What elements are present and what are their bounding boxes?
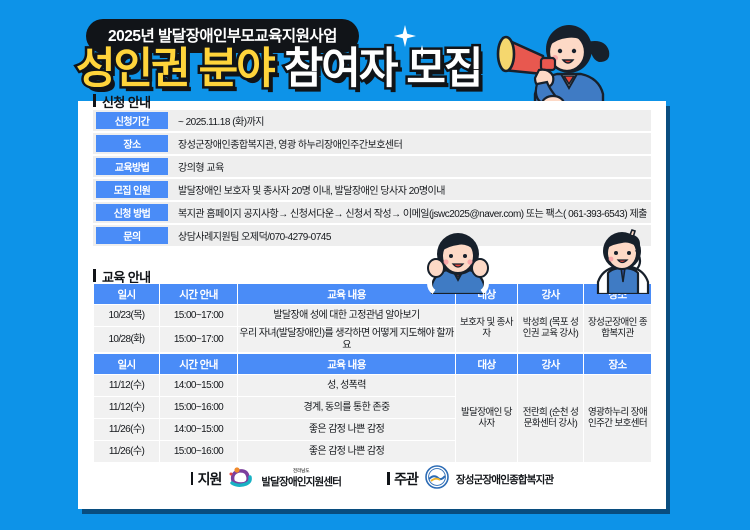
info-value-howto: 복지관 홈페이지 공지사항→ 신청서다운→ 신청서 작성→ 이메일(jswc20… (178, 205, 647, 220)
apply-info-list: 신청기간 ~ 2025.11.18 (화)까지 장소 장성군장애인종합복지관, … (93, 110, 651, 248)
cell-target: 발달장애인 당사자 (456, 375, 518, 463)
cell-date: 10/23(목) (94, 305, 160, 327)
col-time: 시간 안내 (160, 354, 238, 375)
sparkle-small-icon (415, 45, 429, 59)
cell-date: 11/12(수) (94, 397, 160, 419)
info-row: 신청 방법 복지관 홈페이지 공지사항→ 신청서다운→ 신청서 작성→ 이메일(… (93, 202, 651, 223)
info-value-contact: 상담사례지원팀 오제덕/070-4279-0745 (178, 228, 331, 243)
col-date: 일시 (94, 354, 160, 375)
cell-date: 11/26(수) (94, 419, 160, 441)
col-instructor: 강사 (518, 354, 584, 375)
content-card: 신청 안내 신청기간 ~ 2025.11.18 (화)까지 장소 장성군장애인종… (78, 101, 666, 509)
girl-cheeks-illustration (420, 232, 496, 294)
cell-date: 10/28(화) (94, 327, 160, 353)
cell-time: 15:00~17:00 (160, 327, 238, 353)
table-header-row: 일시 시간 안내 교육 내용 대상 강사 장소 (94, 354, 652, 375)
cell-place: 장성군장애인 종합복지관 (584, 305, 652, 353)
info-value-capacity: 발달장애인 보호자 및 종사자 20명 이내, 발달장애인 당사자 20명이내 (178, 182, 445, 197)
info-row: 교육방법 강의형 교육 (93, 156, 651, 177)
education-table-1: 일시 시간 안내 교육 내용 대상 강사 장소 10/23(목) 15:00~1… (93, 283, 652, 353)
col-instructor: 강사 (518, 284, 584, 305)
sparkle-icon (394, 25, 416, 47)
host-group: 주관 장성군장애인종합복지관 (387, 465, 553, 494)
poster-footer: 지원 전라남도 발달장애인지원센터 주관 (78, 461, 666, 497)
col-content: 교육 내용 (238, 354, 456, 375)
info-row: 모집 인원 발달장애인 보호자 및 종사자 20명 이내, 발달장애인 당사자 … (93, 179, 651, 200)
cell-content: 우리 자녀(발달장애인)를 생각하면 어떻게 지도해야 할까요 (238, 327, 456, 353)
table-header-row: 일시 시간 안내 교육 내용 대상 강사 장소 (94, 284, 652, 305)
col-place: 장소 (584, 354, 652, 375)
support-org-text: 발달장애인지원센터 (261, 476, 341, 488)
cell-time: 15:00~16:00 (160, 441, 238, 463)
megaphone-girl-illustration (495, 18, 630, 110)
info-label-capacity: 모집 인원 (96, 181, 168, 198)
col-target: 대상 (456, 354, 518, 375)
support-org-superscript: 전라남도 (261, 469, 341, 474)
info-label-method: 교육방법 (96, 158, 168, 175)
cell-content: 좋은 감정 나쁜 감정 (238, 419, 456, 441)
cell-content: 발달장애 성에 대한 고정관념 알아보기 (238, 305, 456, 327)
table-row: 10/23(목) 15:00~17:00 발달장애 성에 대한 고정관념 알아보… (94, 305, 652, 327)
jangseong-welfare-logo-icon (425, 465, 449, 494)
cell-content: 좋은 감정 나쁜 감정 (238, 441, 456, 463)
support-org-name: 전라남도 발달장애인지원센터 (261, 469, 341, 490)
education-table-2: 일시 시간 안내 교육 내용 대상 강사 장소 11/12(수) 14:00~1… (93, 353, 652, 463)
cell-time: 14:00~15:00 (160, 375, 238, 397)
boy-raised-hand-illustration (588, 228, 658, 294)
cell-date: 11/12(수) (94, 375, 160, 397)
page-title-highlight: 성인권 분야 (76, 45, 274, 93)
cell-content: 성, 성폭력 (238, 375, 456, 397)
page-title-main: 참여자 모집 (284, 45, 482, 93)
host-label: 주관 (387, 469, 418, 489)
info-row: 문의 상담사례지원팀 오제덕/070-4279-0745 (93, 225, 651, 246)
info-value-period: ~ 2025.11.18 (화)까지 (178, 113, 264, 128)
cell-place: 영광하누리 장애인주간 보호센터 (584, 375, 652, 463)
cell-target: 보호자 및 종사자 (456, 305, 518, 353)
cell-date: 11/26(수) (94, 441, 160, 463)
cell-time: 15:00~16:00 (160, 397, 238, 419)
info-value-place: 장성군장애인종합복지관, 영광 하누리장애인주간보호센터 (178, 136, 402, 151)
cell-time: 14:00~15:00 (160, 419, 238, 441)
info-value-method: 강의형 교육 (178, 159, 224, 174)
info-label-period: 신청기간 (96, 112, 168, 129)
cell-content: 경계, 동의를 통한 존중 (238, 397, 456, 419)
jeonnam-center-logo-icon (228, 465, 254, 494)
info-label-howto: 신청 방법 (96, 204, 168, 221)
support-label: 지원 (191, 469, 222, 489)
col-date: 일시 (94, 284, 160, 305)
support-group: 지원 전라남도 발달장애인지원센터 (191, 465, 342, 494)
info-row: 장소 장성군장애인종합복지관, 영광 하누리장애인주간보호센터 (93, 133, 651, 154)
info-label-contact: 문의 (96, 227, 168, 244)
cell-instructor: 전란희 (순천 성 문화센터 강사) (518, 375, 584, 463)
cell-instructor: 박성희 (목포 성인권 교육 강사) (518, 305, 584, 353)
host-org-name: 장성군장애인종합복지관 (456, 472, 553, 487)
col-time: 시간 안내 (160, 284, 238, 305)
cell-time: 15:00~17:00 (160, 305, 238, 327)
section-heading-apply: 신청 안내 (93, 92, 150, 111)
table-row: 11/12(수) 14:00~15:00 성, 성폭력 발달장애인 당사자 전란… (94, 375, 652, 397)
info-row: 신청기간 ~ 2025.11.18 (화)까지 (93, 110, 651, 131)
info-label-place: 장소 (96, 135, 168, 152)
